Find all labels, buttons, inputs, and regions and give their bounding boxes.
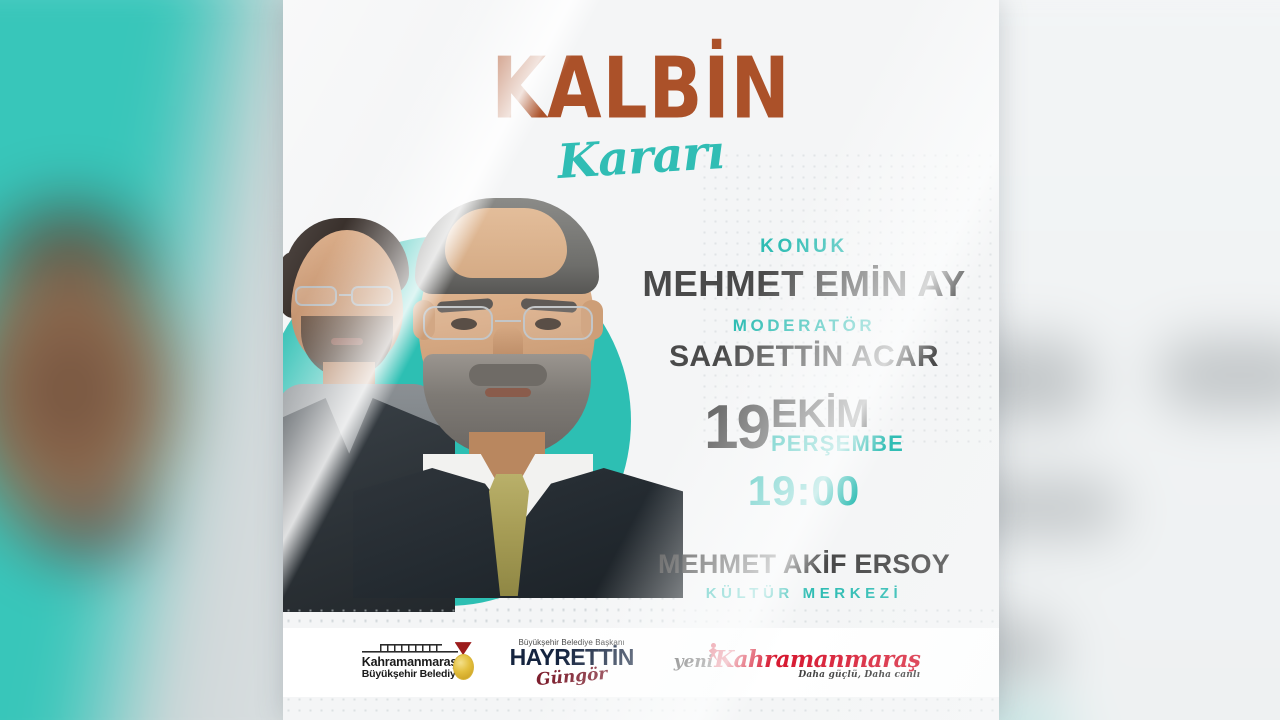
eyeglasses-icon — [419, 306, 599, 342]
poster-title-block: KALBİN Kararı — [283, 48, 999, 185]
venue-name: MEHMET AKİF ERSOY — [619, 549, 989, 580]
event-day: 19 — [704, 401, 769, 456]
event-month: EKİM — [771, 396, 904, 432]
moderator-label: MODERATÖR — [619, 316, 989, 336]
title-main: KALBİN — [290, 48, 992, 129]
guest-name: MEHMET EMİN AY — [615, 264, 992, 304]
logo-municipality: Kahramanmaraş Büyükşehir Belediyesi — [362, 644, 470, 681]
medal-icon — [452, 642, 474, 682]
event-time: 19:00 — [619, 467, 989, 515]
logo-city-brand: yeni Kahramanmaraş Daha güçlü, Daha canl… — [674, 646, 921, 680]
mayor-surname: HAYRETTİN — [510, 647, 634, 669]
event-weekday: PERŞEMBE — [771, 432, 904, 455]
eyeglasses-icon — [293, 286, 401, 306]
moderator-name: SAADETTİN ACAR — [619, 340, 989, 375]
human-figure-icon — [707, 643, 720, 663]
title-script: Kararı — [556, 125, 725, 190]
guest-label: KONUK — [619, 236, 989, 258]
brand-name: Kahramanmaraş — [714, 646, 920, 673]
venue-subtitle: KÜLTÜR MERKEZİ — [619, 585, 989, 602]
speaker-photos — [283, 196, 643, 596]
dot-pattern-footer-bottom — [283, 694, 999, 720]
sponsor-footer: Kahramanmaraş Büyükşehir Belediyesi Büyü… — [283, 628, 999, 697]
event-date: 19 EKİM PERŞEMBE — [619, 396, 989, 455]
photo-guest — [393, 196, 643, 596]
event-details: KONUK MEHMET EMİN AY MODERATÖR SAADETTİN… — [619, 236, 989, 602]
castle-crenellation-icon — [362, 644, 458, 653]
event-poster: KALBİN Kararı — [283, 0, 999, 720]
logo-mayor: Büyükşehir Belediye Başkanı HAYRETTİN Gü… — [510, 638, 634, 687]
